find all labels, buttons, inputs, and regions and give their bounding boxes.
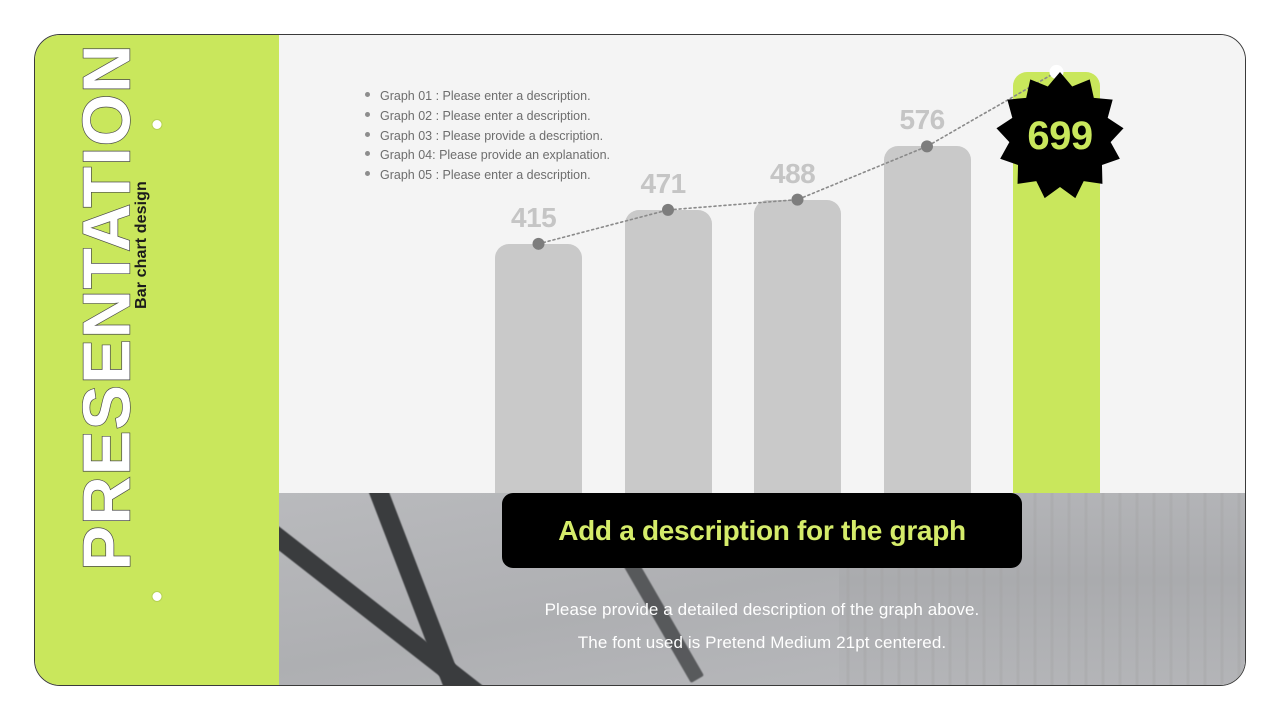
- trend-marker: [533, 238, 545, 250]
- badge-value: 699: [994, 70, 1126, 202]
- decorative-circle-icon: [152, 119, 163, 130]
- caption-line: The font used is Pretend Medium 21pt cen…: [279, 633, 1245, 653]
- decorative-circle-icon: [152, 591, 163, 602]
- highlight-badge: 699: [994, 70, 1126, 202]
- sidebar: PRESENTATION Bar chart design: [35, 35, 279, 686]
- trend-marker: [921, 140, 933, 152]
- main-content: Graph 01 : Please enter a description. G…: [279, 35, 1245, 686]
- photo-detail: [356, 493, 524, 686]
- description-banner: Add a description for the graph: [502, 493, 1022, 568]
- trend-marker: [792, 194, 804, 206]
- page-subtitle: Bar chart design: [133, 135, 151, 355]
- presentation-slide: PRESENTATION Bar chart design Graph 01 :…: [34, 34, 1246, 686]
- trend-marker: [662, 204, 674, 216]
- caption-line: Please provide a detailed description of…: [279, 600, 1245, 620]
- banner-title: Add a description for the graph: [558, 515, 966, 547]
- photo-background: Add a description for the graph Please p…: [279, 493, 1245, 686]
- page-title: PRESENTATION: [74, 91, 141, 571]
